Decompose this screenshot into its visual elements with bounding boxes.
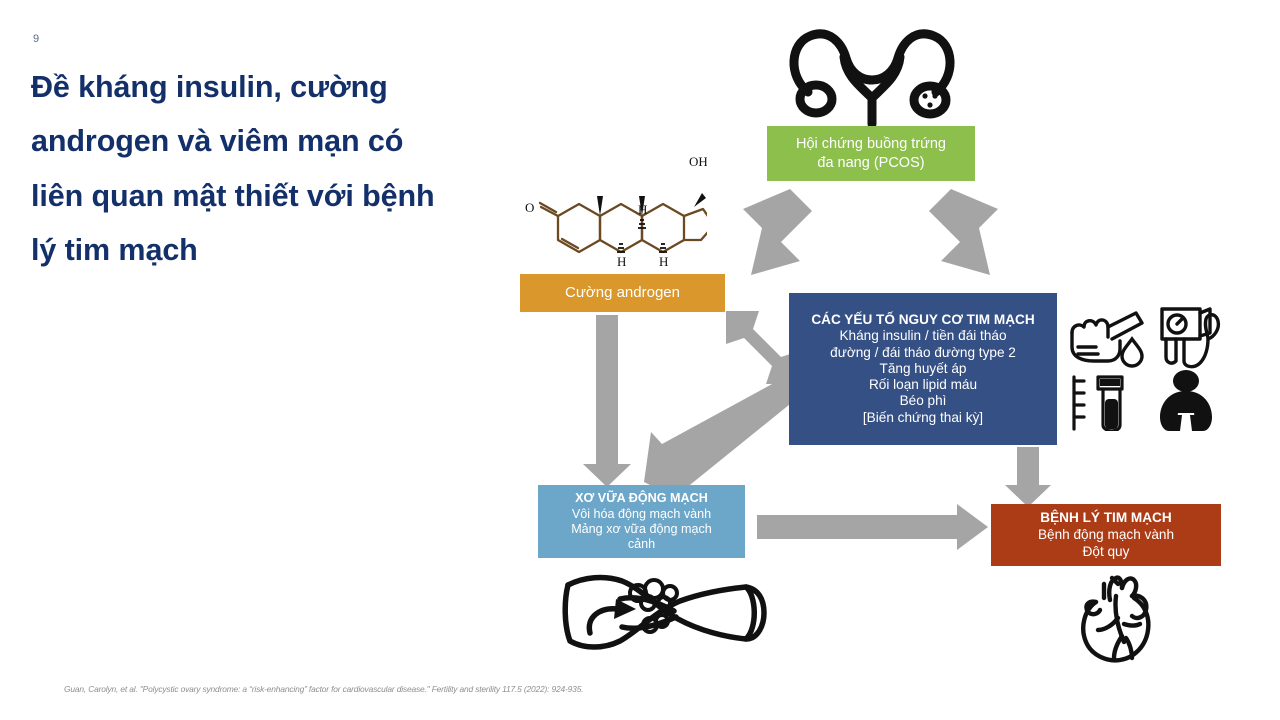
slide-canvas: 9 Đề kháng insulin, cường androgen và vi… xyxy=(0,0,1280,720)
risk-factor-icons-group xyxy=(1068,303,1226,436)
blood-pressure-cuff-icon xyxy=(1162,309,1218,367)
node-atherosclerosis-line-1: Vôi hóa động mạch vành xyxy=(572,507,711,522)
molecule-label-hydrogen-3: H xyxy=(659,254,668,269)
molecule-label-hydrogen-2: H xyxy=(638,202,647,217)
arrow-hyperandrogenism-to-atherosclerosis xyxy=(583,315,631,487)
arrow-atherosclerosis-to-cvd xyxy=(757,504,988,550)
node-cvd-line-1: Bệnh động mạch vành xyxy=(1038,527,1174,543)
node-risk-factors-line-5: Béo phì xyxy=(900,393,947,409)
arrow-pcos-to-risk-factors xyxy=(929,189,998,275)
node-pcos[interactable]: Hội chứng buồng trứng đa nang (PCOS) xyxy=(767,126,975,181)
arrow-pcos-to-hyperandrogenism xyxy=(743,189,812,275)
node-pcos-line-2: đa nang (PCOS) xyxy=(817,154,924,172)
ovarian-cysts xyxy=(922,93,937,107)
uterus-ovaries-icon xyxy=(784,14,960,134)
molecule-label-hydrogen-1: H xyxy=(617,254,626,269)
node-cvd-title: BỆNH LÝ TIM MẠCH xyxy=(1040,510,1171,526)
molecule-label-hydroxyl: OH xyxy=(689,154,707,169)
testosterone-molecule-icon: O OH H H H xyxy=(522,152,707,282)
node-pcos-line-1: Hội chứng buồng trứng xyxy=(796,135,946,153)
arrow-risk-factors-to-cvd xyxy=(1005,447,1051,507)
node-atherosclerosis-line-3: cảnh xyxy=(628,537,655,552)
node-hyperandrogenism[interactable]: Cường androgen xyxy=(520,274,725,312)
anatomical-heart-icon xyxy=(1070,572,1174,669)
molecule-label-oxygen: O xyxy=(525,200,534,215)
node-risk-factors-line-3: Tăng huyết áp xyxy=(880,361,967,377)
node-risk-factors-title: CÁC YẾU TỐ NGUY CƠ TIM MẠCH xyxy=(811,312,1034,328)
node-risk-factors-line-2: đường / đái tháo đường type 2 xyxy=(830,345,1016,361)
node-hyperandrogenism-label: Cường androgen xyxy=(565,284,680,302)
node-cvd-line-2: Đột quy xyxy=(1083,544,1130,560)
node-atherosclerosis-title: XƠ VỮA ĐỘNG MẠCH xyxy=(575,491,708,506)
node-cvd[interactable]: BỆNH LÝ TIM MẠCH Bệnh động mạch vành Đột… xyxy=(991,504,1221,566)
node-risk-factors-line-6: [Biến chứng thai kỳ] xyxy=(863,410,983,426)
node-atherosclerosis[interactable]: XƠ VỮA ĐỘNG MẠCH Vôi hóa động mạch vành … xyxy=(538,485,745,558)
node-risk-factors-line-1: Kháng insulin / tiền đái tháo xyxy=(839,328,1006,344)
node-risk-factors[interactable]: CÁC YẾU TỐ NGUY CƠ TIM MẠCH Kháng insuli… xyxy=(789,293,1057,445)
node-atherosclerosis-line-2: Mảng xơ vữa động mạch xyxy=(571,522,712,537)
node-risk-factors-line-4: Rối loạn lipid máu xyxy=(869,377,977,393)
obese-person-icon xyxy=(1160,370,1212,431)
blood-drop-glyph xyxy=(1122,339,1142,366)
atherosclerotic-artery-icon xyxy=(560,567,770,664)
